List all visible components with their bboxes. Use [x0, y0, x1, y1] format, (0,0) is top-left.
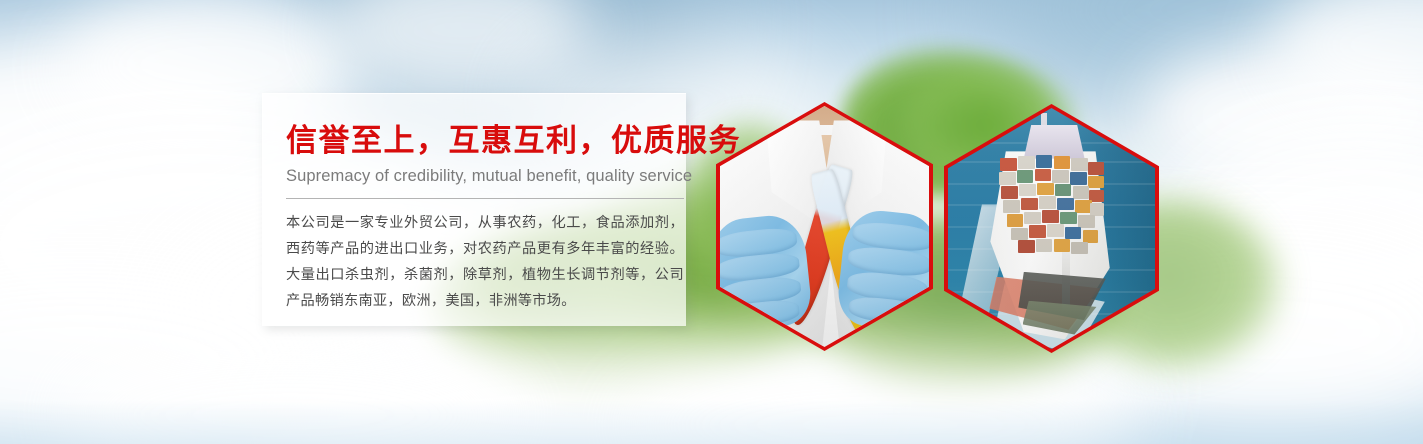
headline-english: Supremacy of credibility, mutual benefit…	[286, 168, 692, 185]
hexagon-laboratory-image-clip	[720, 106, 929, 347]
hexagon-laboratory-photo[interactable]	[716, 102, 933, 351]
promo-text-panel: 信誉至上，互惠互利，优质服务 Supremacy of credibility,…	[262, 93, 686, 326]
headline-chinese: 信誉至上，互惠互利，优质服务	[286, 125, 741, 156]
hexagon-cargo-ship-photo[interactable]	[944, 104, 1159, 353]
company-hero-banner: 信誉至上，互惠互利，优质服务 Supremacy of credibility,…	[0, 0, 1423, 444]
laboratory-photo-content	[720, 106, 929, 347]
company-description-text: 本公司是一家专业外贸公司，从事农药，化工，食品添加剂，西药等产品的进出口业务，对…	[286, 210, 684, 314]
cargo-ship-photo-content	[948, 108, 1155, 349]
panel-divider	[286, 198, 684, 199]
hexagon-ship-image-clip	[948, 108, 1155, 349]
